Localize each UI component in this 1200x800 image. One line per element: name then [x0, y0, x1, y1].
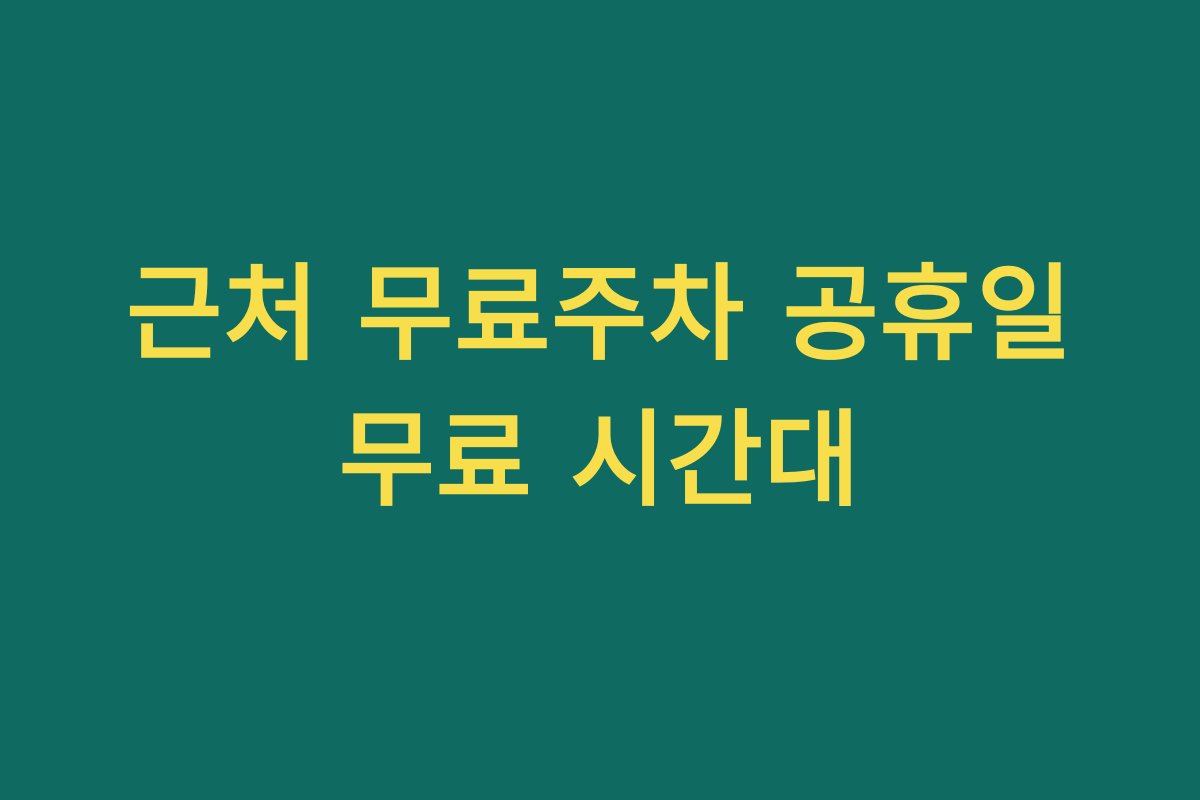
title-line-1: 근처 무료주차 공휴일 — [0, 241, 1200, 387]
title-banner-card: 근처 무료주차 공휴일 무료 시간대 — [0, 0, 1200, 800]
page-title: 근처 무료주차 공휴일 무료 시간대 — [0, 241, 1200, 533]
title-line-2: 무료 시간대 — [0, 387, 1200, 533]
